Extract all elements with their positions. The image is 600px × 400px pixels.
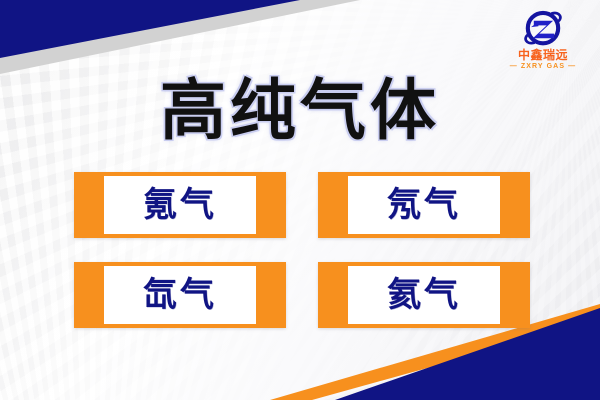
brand-name-cn: 中鑫瑞远	[500, 49, 586, 62]
gas-item-inner: 氙气	[104, 266, 256, 324]
gas-item-label: 氖气	[387, 186, 461, 224]
gas-list: 氪气 氖气 氙气 氦气	[74, 172, 530, 328]
gas-item-label: 氙气	[143, 276, 217, 314]
brand-name-en: — ZXRY GAS —	[500, 62, 586, 71]
brand-logo: 中鑫瑞远 — ZXRY GAS —	[500, 6, 586, 74]
gas-item-inner: 氪气	[104, 176, 256, 234]
gas-item-inner: 氦气	[348, 266, 500, 324]
gas-item-krypton[interactable]: 氪气	[74, 172, 286, 238]
page-title: 高纯气体	[0, 72, 600, 150]
gas-item-inner: 氖气	[348, 176, 500, 234]
gas-item-label: 氦气	[387, 276, 461, 314]
poster-canvas: 中鑫瑞远 — ZXRY GAS — 高纯气体 氪气 氖气 氙气 氦气	[0, 0, 600, 400]
zxry-z-monogram-icon	[520, 6, 566, 52]
gas-item-xenon[interactable]: 氙气	[74, 262, 286, 328]
gas-item-label: 氪气	[143, 186, 217, 224]
gas-item-neon[interactable]: 氖气	[318, 172, 530, 238]
gas-item-helium[interactable]: 氦气	[318, 262, 530, 328]
